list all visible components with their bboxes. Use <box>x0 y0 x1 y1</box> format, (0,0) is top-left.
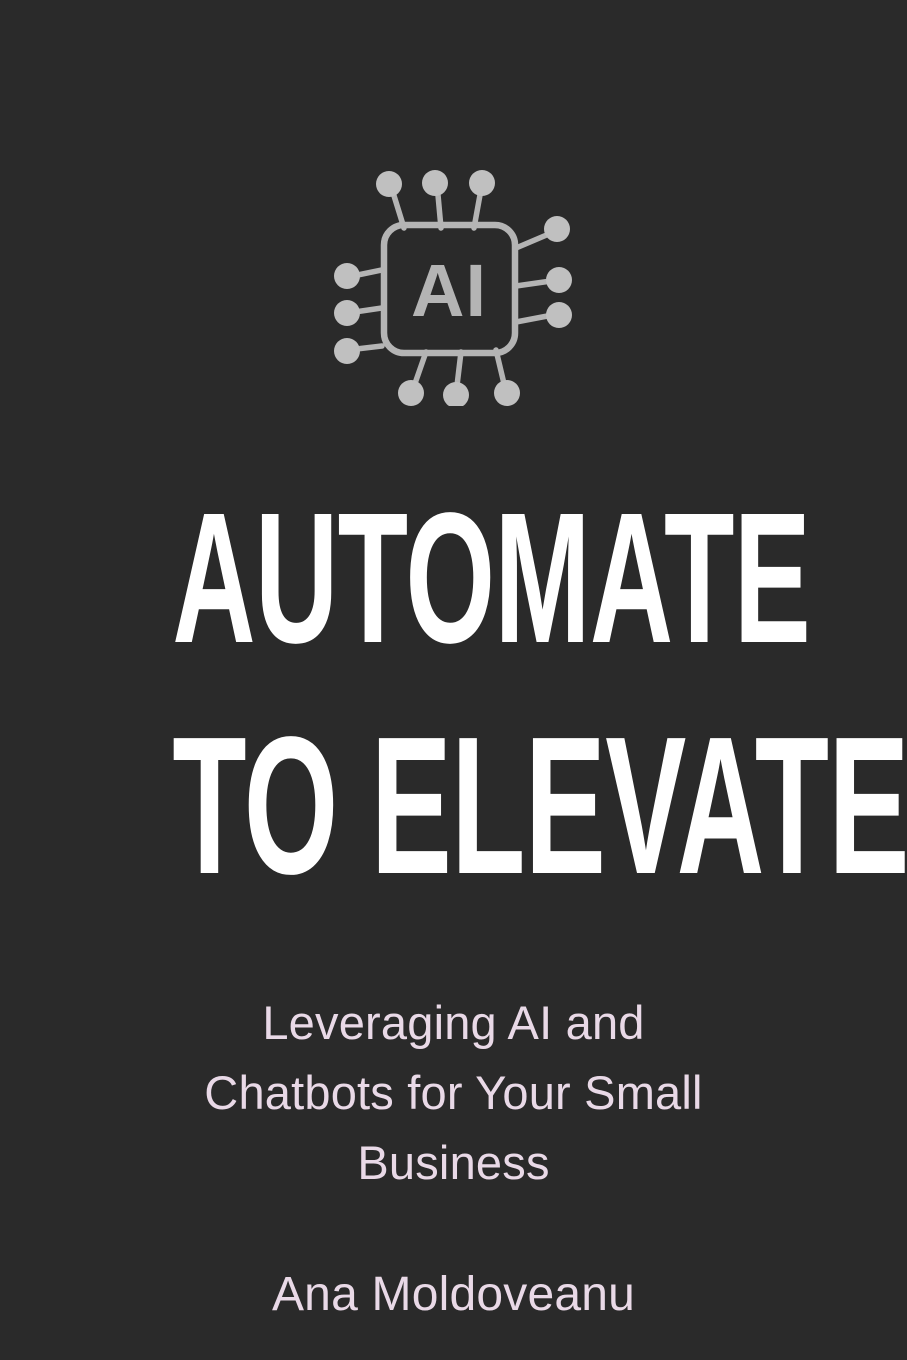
book-subtitle: Leveraging AI and Chatbots for Your Smal… <box>0 988 907 1198</box>
chip-ai-label: AI <box>411 249 487 332</box>
subtitle-line-3: Business <box>0 1128 907 1198</box>
author-name: Ana Moldoveanu <box>0 1266 907 1324</box>
ai-chip-icon: AI <box>334 170 574 406</box>
logo-block: AI <box>0 168 907 408</box>
subtitle-line-1: Leveraging AI and <box>0 988 907 1058</box>
book-title: AUTOMATE TO ELEVATE <box>0 470 907 904</box>
title-line-2: TO ELEVATE <box>172 708 734 904</box>
book-cover: AI AUTOMATE TO ELEVATE Leveraging AI and… <box>0 0 907 1360</box>
book-author: Ana Moldoveanu <box>0 1266 907 1324</box>
title-line-1: AUTOMATE <box>172 470 734 672</box>
subtitle-line-2: Chatbots for Your Small <box>0 1058 907 1128</box>
